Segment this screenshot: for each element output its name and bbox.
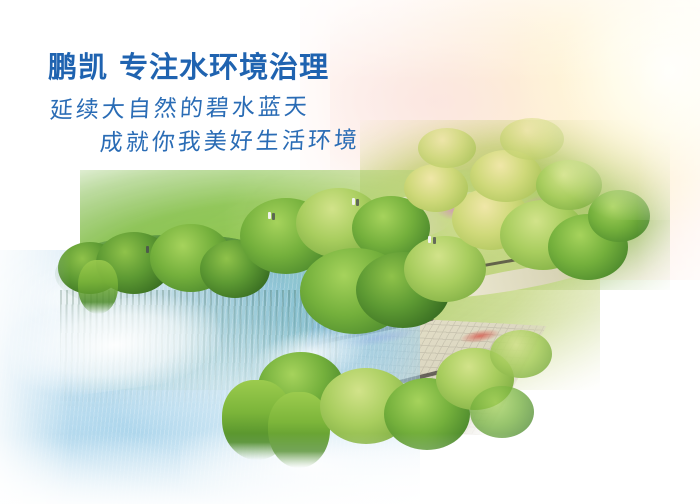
tree-canopy	[352, 196, 430, 260]
tree-canopy	[436, 348, 514, 410]
retaining-wall-right	[441, 252, 550, 274]
upper-walkway	[248, 201, 451, 264]
flower-bed-purple-plaza	[335, 325, 416, 352]
cloud-reflection-a	[5, 286, 225, 404]
tree-canopy	[384, 378, 470, 450]
tree-canopy	[296, 188, 382, 258]
subtitle-line-2: 成就你我美好生活环境	[99, 121, 361, 158]
subtitle-line-1: 延续大自然的碧水蓝天	[49, 87, 311, 125]
sun-core-layer	[520, 0, 700, 220]
plaza-paving-texture	[273, 314, 546, 435]
retaining-wall-plaza-a	[306, 317, 434, 348]
willow-tree	[78, 260, 118, 314]
right-walkway	[430, 255, 601, 304]
left-shore-tree-band	[55, 235, 285, 315]
tree-canopy	[320, 368, 412, 444]
flowering-tree-right	[520, 195, 572, 225]
main-lawn-layer	[80, 170, 600, 390]
tree-canopy	[404, 164, 468, 212]
person-figure	[352, 198, 355, 205]
cloud-reflection-c	[246, 318, 374, 392]
hero-banner: 鹏凯 专注水环境治理 延续大自然的碧水蓝天 成就你我美好生活环境	[0, 0, 700, 504]
person-figure	[146, 246, 149, 253]
person-figure	[272, 213, 275, 220]
main-plaza-paving	[273, 314, 546, 435]
tree-canopy	[470, 386, 534, 438]
tree-canopy	[470, 150, 542, 202]
banner-text-block: 鹏凯 专注水环境治理 延续大自然的碧水蓝天 成就你我美好生活环境	[0, 0, 430, 170]
person-figure	[428, 236, 431, 243]
tree-reflections	[60, 290, 340, 410]
tree-canopy	[536, 160, 602, 210]
tree-canopy	[356, 252, 450, 328]
tree-canopy	[300, 248, 410, 334]
tree-canopy	[200, 240, 270, 298]
tree-canopy	[96, 232, 172, 294]
page-title: 鹏凯 专注水环境治理	[48, 44, 329, 86]
retaining-wall-plaza-b	[381, 356, 498, 389]
water-body	[0, 250, 420, 504]
tree-canopy	[500, 118, 564, 160]
tree-canopy	[500, 200, 586, 270]
tree-canopy	[548, 214, 628, 280]
top-walkway	[330, 187, 521, 219]
person-figure	[433, 237, 436, 244]
flower-bed-red-plaza	[459, 327, 500, 346]
flower-bed-pink-upper	[300, 206, 371, 225]
water-ripple-texture	[0, 250, 420, 504]
tree-canopy	[588, 190, 650, 242]
willow-tree	[268, 392, 330, 468]
tree-canopy	[452, 188, 530, 250]
flower-bed-red-upper	[392, 243, 439, 258]
cloud-reflection-b	[180, 420, 440, 504]
retaining-wall-upper	[260, 221, 379, 239]
tree-canopy	[58, 242, 122, 294]
tree-canopy	[150, 224, 232, 292]
person-figure	[356, 199, 359, 206]
plaza-water-edge	[270, 322, 341, 422]
tree-canopy	[404, 236, 486, 302]
flowering-tree-center	[436, 200, 474, 220]
willow-tree	[222, 380, 292, 460]
tree-canopy	[490, 330, 552, 378]
tree-canopy	[258, 352, 344, 422]
tree-canopy	[240, 198, 332, 274]
person-figure	[268, 212, 271, 219]
